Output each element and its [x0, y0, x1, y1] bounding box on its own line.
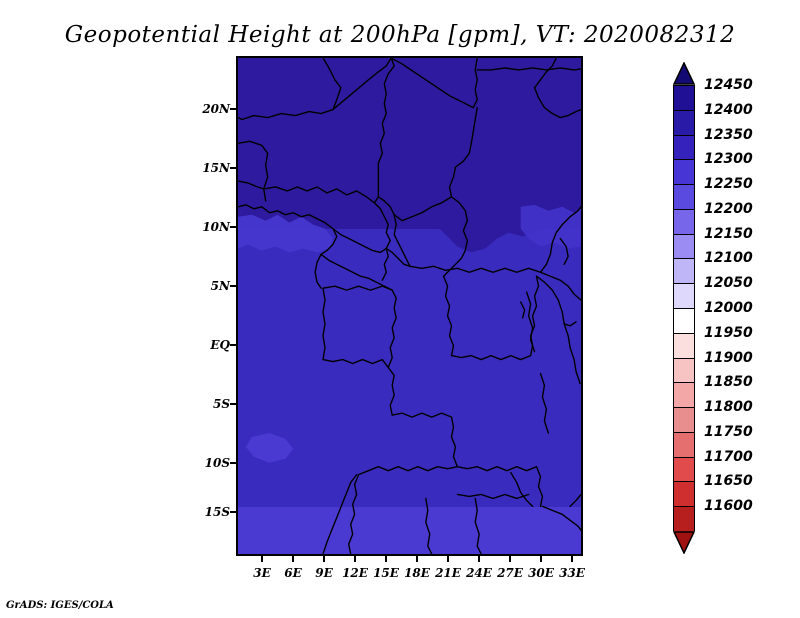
colorbar-band-8	[674, 284, 694, 309]
colorbar-label-11650: 11650	[704, 473, 753, 489]
colorbar-band-15	[674, 458, 694, 483]
y-axis-label-5N: 5N	[211, 279, 230, 293]
colorbar-label-11800: 11800	[704, 399, 753, 415]
colorbar-label-12150: 12150	[704, 226, 753, 242]
colorbar-band-6	[674, 235, 694, 260]
x-axis-tick-3E	[261, 556, 263, 562]
colorbar-band-14	[674, 433, 694, 458]
y-axis-label-10S: 10S	[205, 456, 230, 470]
colorbar-band-1	[674, 111, 694, 136]
y-axis-tick-10S	[230, 462, 236, 464]
x-axis-tick-30E	[540, 556, 542, 562]
colorbar-label-11750: 11750	[704, 424, 753, 440]
colorbar-band-2	[674, 136, 694, 161]
colorbar-band-9	[674, 309, 694, 334]
x-axis-label-21E: 21E	[435, 566, 461, 580]
x-axis-label-3E: 3E	[253, 566, 271, 580]
x-axis-label-33E: 33E	[559, 566, 585, 580]
y-axis-label-20N: 20N	[202, 102, 230, 116]
colorbar[interactable]	[673, 62, 695, 554]
colorbar-band-4	[674, 185, 694, 210]
y-axis-tick-EQ	[230, 344, 236, 346]
colorbar-label-12050: 12050	[704, 275, 753, 291]
colorbar-band-13	[674, 408, 694, 433]
colorbar-cap-top-icon	[673, 62, 695, 85]
x-axis-label-12E: 12E	[342, 566, 368, 580]
colorbar-band-0	[674, 86, 694, 111]
colorbar-band-10	[674, 334, 694, 359]
x-axis-label-18E: 18E	[404, 566, 430, 580]
x-axis-tick-27E	[509, 556, 511, 562]
x-axis-tick-9E	[323, 556, 325, 562]
y-axis-label-EQ: EQ	[210, 338, 230, 352]
x-axis-tick-21E	[447, 556, 449, 562]
y-axis-label-5S: 5S	[213, 397, 230, 411]
colorbar-cap-bottom-icon	[673, 531, 695, 554]
colorbar-label-12100: 12100	[704, 250, 753, 266]
x-axis-tick-18E	[416, 556, 418, 562]
x-axis: 3E 6E 9E 12E 15E 18E 21E 24E 27E 30E 33E	[236, 558, 583, 584]
colorbar-label-11950: 11950	[704, 325, 753, 341]
colorbar-bands	[673, 85, 695, 531]
y-axis-tick-20N	[230, 108, 236, 110]
colorbar-band-7	[674, 259, 694, 284]
x-axis-label-24E: 24E	[466, 566, 492, 580]
y-axis-tick-15S	[230, 511, 236, 513]
x-axis-tick-24E	[478, 556, 480, 562]
colorbar-band-3	[674, 160, 694, 185]
grads-credit: GrADS: IGES/COLA	[6, 600, 114, 611]
colorbar-label-11850: 11850	[704, 374, 753, 390]
colorbar-label-12200: 12200	[704, 201, 753, 217]
x-axis-label-15E: 15E	[373, 566, 399, 580]
x-axis-tick-12E	[354, 556, 356, 562]
x-axis-tick-33E	[571, 556, 573, 562]
colorbar-band-17	[674, 507, 694, 532]
colorbar-label-12400: 12400	[704, 102, 753, 118]
y-axis-tick-15N	[230, 167, 236, 169]
x-axis-label-6E: 6E	[284, 566, 302, 580]
x-axis-label-27E: 27E	[497, 566, 523, 580]
y-axis-label-10N: 10N	[202, 220, 230, 234]
colorbar-label-12350: 12350	[704, 127, 753, 143]
x-axis-tick-15E	[385, 556, 387, 562]
y-axis-tick-5S	[230, 403, 236, 405]
country-borders-and-coastlines	[238, 58, 581, 554]
colorbar-label-12450: 12450	[704, 77, 753, 93]
page-title: Geopotential Height at 200hPa [gpm], VT:…	[0, 22, 800, 48]
colorbar-band-5	[674, 210, 694, 235]
colorbar-label-12250: 12250	[704, 176, 753, 192]
colorbar-label-12000: 12000	[704, 300, 753, 316]
x-axis-label-30E: 30E	[528, 566, 554, 580]
y-axis-tick-10N	[230, 226, 236, 228]
y-axis-label-15S: 15S	[205, 505, 230, 519]
colorbar-label-11600: 11600	[704, 498, 753, 514]
colorbar-label-11700: 11700	[704, 449, 753, 465]
y-axis: 20N 15N 10N 5N EQ 5S 10S 15S	[186, 56, 230, 556]
x-axis-tick-6E	[292, 556, 294, 562]
y-axis-tick-5N	[230, 285, 236, 287]
colorbar-label-11900: 11900	[704, 350, 753, 366]
colorbar-label-12300: 12300	[704, 151, 753, 167]
x-axis-label-9E: 9E	[315, 566, 333, 580]
colorbar-band-16	[674, 482, 694, 507]
colorbar-band-11	[674, 359, 694, 384]
colorbar-band-12	[674, 383, 694, 408]
y-axis-label-15N: 15N	[202, 161, 230, 175]
map-plot-area[interactable]	[236, 56, 583, 556]
